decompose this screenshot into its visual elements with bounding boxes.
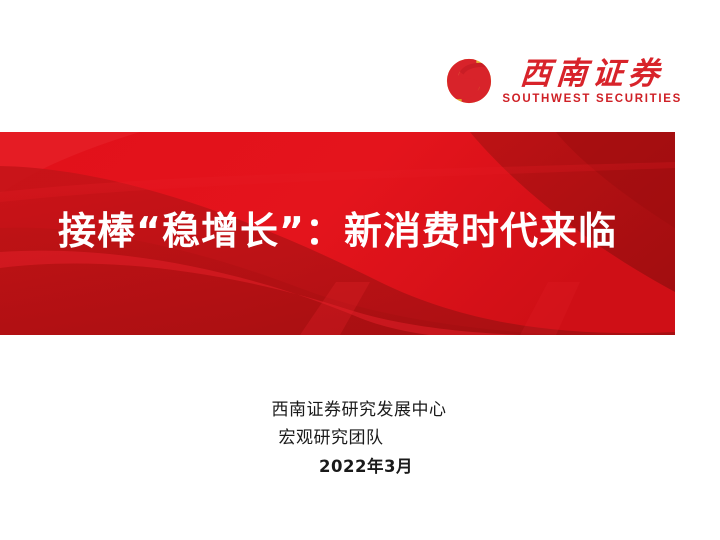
logo-english-name: SOUTHWEST SECURITIES <box>502 93 682 105</box>
organization-name: 西南证券研究发展中心 <box>0 396 719 424</box>
title-slide: 西南证券 SOUTHWEST SECURITIES <box>0 0 720 540</box>
footer-text-block: 西南证券研究发展中心 宏观研究团队 2022年3月 <box>0 396 720 481</box>
team-name: 宏观研究团队 <box>0 424 691 452</box>
slide-title: 接棒“稳增长”：新消费时代来临 <box>0 132 675 335</box>
company-logo: 西南证券 SOUTHWEST SECURITIES <box>446 58 682 105</box>
logo-wordmark: 西南证券 SOUTHWEST SECURITIES <box>502 58 682 105</box>
slide-title-text: 接棒“稳增长”：新消费时代来临 <box>58 200 617 255</box>
logo-chinese-name: 西南证券 <box>519 58 665 91</box>
southwest-securities-emblem-icon <box>446 58 492 104</box>
publication-date: 2022年3月 <box>6 453 720 481</box>
title-banner: 接棒“稳增长”：新消费时代来临 <box>0 132 675 335</box>
